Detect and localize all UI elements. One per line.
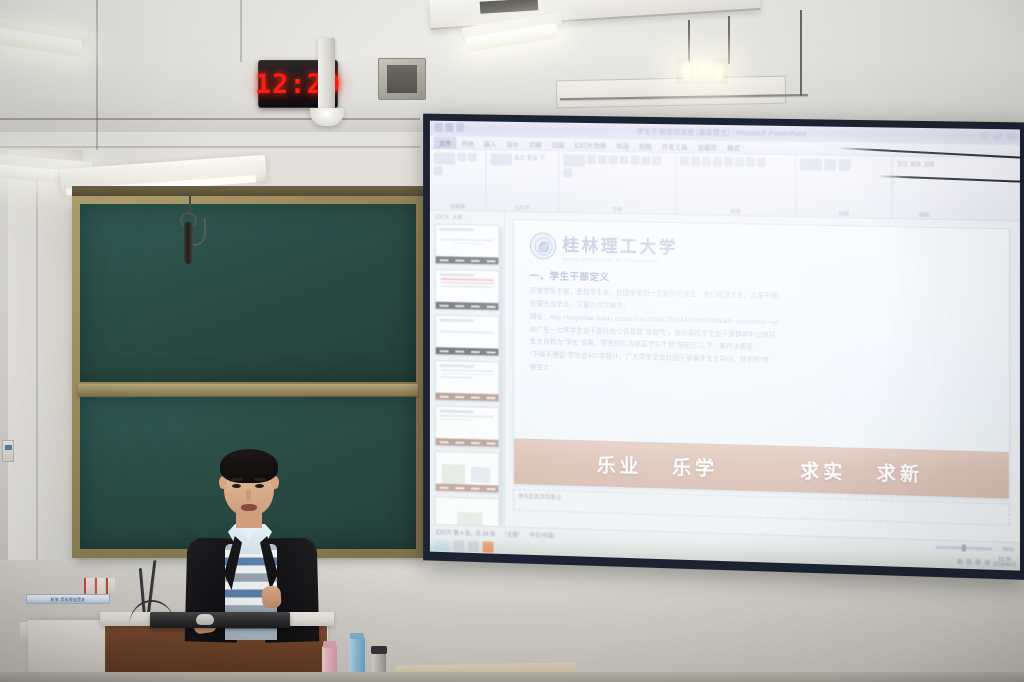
thumbnail-number: 6 bbox=[430, 453, 431, 458]
shield-icon[interactable] bbox=[975, 559, 981, 565]
thumb-text bbox=[441, 415, 494, 418]
hand-right bbox=[261, 585, 281, 608]
ie-icon[interactable] bbox=[453, 540, 464, 551]
tab-slides-thumb[interactable]: 幻灯片 bbox=[435, 214, 450, 221]
thumbnail-number: 4 bbox=[430, 362, 431, 367]
thumbnail-number: 7 bbox=[430, 498, 431, 503]
format-painter-icon[interactable] bbox=[434, 166, 443, 175]
line-spacing-icon[interactable] bbox=[735, 157, 744, 166]
save-icon[interactable] bbox=[435, 123, 443, 132]
replace-label[interactable]: 替换 bbox=[910, 160, 921, 168]
bold-icon[interactable] bbox=[620, 155, 629, 164]
folder-icon[interactable] bbox=[468, 540, 479, 551]
ribbon[interactable]: 剪贴板 版式 重设 节 幻灯片 bbox=[430, 149, 1020, 221]
chalk-box bbox=[84, 578, 94, 594]
ceiling-vent bbox=[378, 58, 426, 100]
mouse[interactable] bbox=[196, 614, 214, 625]
shapes-gallery-icon[interactable] bbox=[800, 158, 822, 170]
hair bbox=[220, 449, 278, 483]
hanging-microphone bbox=[184, 222, 193, 264]
undo-icon[interactable] bbox=[446, 123, 454, 132]
layout-label[interactable]: 版式 bbox=[514, 154, 525, 166]
ceiling-seam bbox=[0, 146, 420, 148]
thumb-text bbox=[441, 373, 494, 376]
motto-word-4: 求新 bbox=[877, 458, 924, 487]
dark-bottle-cap bbox=[371, 646, 387, 654]
tab-transitions[interactable]: 切换 bbox=[524, 138, 547, 150]
font-name-box[interactable] bbox=[563, 154, 585, 166]
redo-icon[interactable] bbox=[456, 123, 464, 132]
tab-animations[interactable]: 动画 bbox=[547, 138, 570, 150]
university-seal-icon bbox=[530, 232, 557, 259]
thumbnail-number: 3 bbox=[430, 316, 431, 321]
thumb-text bbox=[441, 278, 494, 281]
thumbnail-number: 2 bbox=[430, 271, 431, 276]
tab-outline[interactable]: 大纲 bbox=[452, 214, 462, 221]
thumb-text bbox=[441, 282, 494, 285]
tab-review[interactable]: 审阅 bbox=[611, 139, 634, 151]
presenter bbox=[178, 440, 328, 640]
thumb-heading bbox=[440, 273, 474, 277]
thumb-heading bbox=[440, 228, 474, 232]
motto-word-2: 乐学 bbox=[672, 452, 718, 480]
thumb-text bbox=[441, 238, 494, 241]
motto-word-1: 乐业 bbox=[597, 450, 643, 478]
thumbnail-slide-7[interactable]: 7 bbox=[435, 496, 500, 526]
slide-body-text: 所谓学生干部，是指学生会、社团中承担一定职务的学生，他们既是学生，又是干部； 既… bbox=[530, 286, 991, 387]
thumb-text bbox=[441, 369, 494, 372]
battery-icon[interactable] bbox=[984, 559, 990, 565]
university-name-en: GUILIN UNIVERSITY OF TECHNOLOGY bbox=[562, 257, 678, 264]
floor bbox=[0, 672, 1024, 682]
slide-logo-row: 桂林理工大学 GUILIN UNIVERSITY OF TECHNOLOGY bbox=[514, 220, 1009, 271]
thumbnail-slide-4[interactable]: 4 bbox=[435, 360, 500, 402]
thumbnail-slide-3[interactable]: 3 bbox=[435, 314, 500, 356]
ceiling-seam bbox=[240, 0, 242, 62]
tab-view[interactable]: 视图 bbox=[634, 140, 657, 152]
slide-thumbnail-panel[interactable]: 幻灯片 大纲 1 2 bbox=[430, 211, 505, 527]
university-name-cn: 桂林理工大学 bbox=[562, 231, 678, 258]
editor-body: 幻灯片 大纲 1 2 bbox=[430, 211, 1020, 543]
ribbon-group-drawing[interactable]: 绘图 bbox=[796, 155, 893, 218]
chalk-box bbox=[95, 578, 105, 594]
projector-mount-pole bbox=[318, 38, 335, 116]
thumb-heading bbox=[440, 319, 474, 323]
grow-font-icon[interactable] bbox=[598, 155, 607, 164]
ribbon-group-paragraph[interactable]: 段落 bbox=[676, 153, 796, 216]
thumb-footer bbox=[436, 393, 499, 402]
tab-insert[interactable]: 插入 bbox=[479, 137, 502, 149]
pink-thermos-cap bbox=[323, 641, 336, 648]
thumbnail-slide-6[interactable]: 6 bbox=[435, 451, 500, 493]
section-label[interactable]: 节 bbox=[540, 154, 545, 166]
shrink-font-icon[interactable] bbox=[609, 155, 618, 164]
ceiling-lamp-cluster bbox=[676, 58, 728, 84]
thumbnail-number: 5 bbox=[430, 407, 431, 412]
taskbar-clock-date: 2018/4/12 bbox=[993, 563, 1016, 569]
seal-emblem bbox=[539, 241, 550, 252]
thumb-text bbox=[441, 418, 474, 420]
powerpoint-icon[interactable] bbox=[483, 541, 494, 552]
thumbnail-scrollbar[interactable] bbox=[499, 228, 503, 525]
light-switch-plate[interactable] bbox=[2, 440, 14, 462]
zoom-level[interactable]: 66% bbox=[1003, 546, 1014, 552]
tab-format[interactable]: 格式 bbox=[722, 141, 745, 153]
thumb-heading bbox=[440, 410, 474, 414]
ribbon-group-font[interactable]: 字体 bbox=[559, 151, 676, 214]
classroom-photo-scene: 12:29 学生干部培训讲座 [兼容模式] - Microsoft PowerP… bbox=[0, 0, 1024, 682]
thumb-text bbox=[441, 285, 494, 288]
wall-panel bbox=[556, 76, 787, 109]
eye-right bbox=[255, 484, 264, 488]
thumbnail-number: 1 bbox=[430, 225, 431, 230]
slide-footer-banner: 乐业 乐学 求实 求新 bbox=[514, 438, 1009, 498]
tab-file[interactable]: 文件 bbox=[434, 137, 456, 149]
slide-editing-stage[interactable]: 桂林理工大学 GUILIN UNIVERSITY OF TECHNOLOGY 一… bbox=[505, 212, 1020, 542]
ceiling-seam bbox=[96, 0, 98, 150]
thumb-image bbox=[471, 467, 491, 483]
ribbon-group-label: 编辑 bbox=[893, 211, 956, 219]
align-left-icon[interactable] bbox=[702, 157, 711, 166]
tab-home[interactable]: 开始 bbox=[456, 137, 478, 149]
font-color-icon[interactable] bbox=[563, 168, 572, 177]
close-icon[interactable] bbox=[1007, 132, 1016, 140]
ribbon-group-editing[interactable]: 查找 替换 选择 编辑 bbox=[893, 157, 956, 220]
tab-addins[interactable]: 加载项 bbox=[693, 141, 722, 153]
columns-icon[interactable] bbox=[746, 157, 755, 166]
thumb-footer bbox=[436, 438, 499, 447]
underline-icon[interactable] bbox=[641, 156, 650, 165]
ribbon-group-label: 剪贴板 bbox=[430, 203, 486, 211]
light-hanger bbox=[728, 16, 730, 64]
new-slide-icon[interactable] bbox=[491, 153, 513, 165]
chalk-shelf: 粉笔 黑板擦放置处 bbox=[26, 594, 110, 604]
window-title: 学生干部培训讲座 [兼容模式] - Microsoft PowerPoint bbox=[637, 127, 806, 140]
cut-icon[interactable] bbox=[457, 153, 466, 162]
reset-label[interactable]: 重设 bbox=[527, 154, 538, 166]
mouth bbox=[241, 504, 257, 511]
thumb-text bbox=[441, 376, 474, 378]
theme-name: "主题" bbox=[505, 530, 520, 538]
motto-word-3: 求实 bbox=[800, 456, 846, 484]
slide-indicator: 幻灯片 第 4 张，共 28 张 bbox=[436, 528, 495, 538]
font-size-box[interactable] bbox=[587, 155, 596, 164]
bullets-icon[interactable] bbox=[680, 156, 689, 165]
projected-desktop[interactable]: 学生干部培训讲座 [兼容模式] - Microsoft PowerPoint 文… bbox=[430, 121, 1020, 571]
projection-screen: 学生干部培训讲座 [兼容模式] - Microsoft PowerPoint 文… bbox=[423, 114, 1024, 580]
arrange-icon[interactable] bbox=[824, 159, 836, 171]
keyboard[interactable] bbox=[150, 612, 290, 628]
tab-slideshow[interactable]: 幻灯片放映 bbox=[569, 139, 611, 152]
copy-icon[interactable] bbox=[468, 153, 477, 162]
minimize-icon[interactable] bbox=[980, 132, 989, 140]
quick-styles-icon[interactable] bbox=[838, 159, 850, 171]
ribbon-group-clipboard[interactable]: 剪贴板 bbox=[430, 149, 487, 210]
thumb-image bbox=[442, 464, 465, 484]
tab-developer[interactable]: 开发工具 bbox=[657, 140, 693, 153]
thumb-heading bbox=[440, 364, 474, 368]
paste-icon[interactable] bbox=[434, 152, 455, 164]
volume-icon[interactable] bbox=[957, 558, 963, 564]
ceiling-seam bbox=[0, 118, 420, 120]
zoom-slider[interactable] bbox=[935, 546, 992, 551]
light-hanger bbox=[800, 10, 802, 96]
thumb-footer bbox=[436, 302, 499, 310]
italic-icon[interactable] bbox=[630, 156, 639, 165]
zoom-slider-handle[interactable] bbox=[962, 545, 966, 552]
chalkboard-upper-panel bbox=[80, 204, 416, 382]
tab-design[interactable]: 设计 bbox=[501, 138, 524, 150]
ribbon-group-slides[interactable]: 版式 重设 节 幻灯片 bbox=[487, 150, 560, 212]
current-slide[interactable]: 桂林理工大学 GUILIN UNIVERSITY OF TECHNOLOGY 一… bbox=[513, 219, 1010, 499]
start-button[interactable] bbox=[434, 539, 450, 550]
thumbnail-slide-2[interactable]: 2 bbox=[435, 269, 500, 311]
find-label[interactable]: 查找 bbox=[897, 160, 908, 168]
thumbnail-slide-5[interactable]: 5 bbox=[435, 405, 500, 447]
chalk-shelf-label: 粉笔 黑板擦放置处 bbox=[27, 595, 109, 605]
nose bbox=[246, 490, 251, 501]
taskbar-clock[interactable]: 12:29 2018/4/12 bbox=[993, 557, 1016, 568]
shadow-icon[interactable] bbox=[652, 156, 661, 165]
eye-left bbox=[232, 484, 241, 488]
align-right-icon[interactable] bbox=[724, 157, 733, 166]
maximize-icon[interactable] bbox=[993, 132, 1002, 140]
numbering-icon[interactable] bbox=[691, 157, 700, 166]
quick-access-toolbar[interactable] bbox=[435, 123, 464, 132]
ribbon-group-label: 幻灯片 bbox=[487, 204, 559, 212]
network-icon[interactable] bbox=[966, 559, 972, 565]
select-label[interactable]: 选择 bbox=[923, 160, 934, 168]
chalkboard-rail bbox=[78, 384, 418, 396]
thumbnail-slide-1[interactable]: 1 bbox=[435, 224, 500, 266]
align-center-icon[interactable] bbox=[713, 157, 722, 166]
language-indicator[interactable]: 中文(中国) bbox=[530, 531, 555, 540]
thumb-footer bbox=[436, 256, 499, 264]
thumb-text bbox=[453, 242, 486, 244]
blue-thermos-cap bbox=[350, 633, 364, 639]
thumb-text bbox=[441, 330, 494, 333]
window-controls[interactable] bbox=[980, 132, 1016, 141]
text-direction-icon[interactable] bbox=[757, 158, 766, 167]
system-tray[interactable]: 12:29 2018/4/12 bbox=[957, 556, 1016, 569]
thumb-footer bbox=[436, 347, 499, 355]
chalk-box bbox=[106, 578, 115, 594]
thumb-footer bbox=[436, 484, 499, 493]
